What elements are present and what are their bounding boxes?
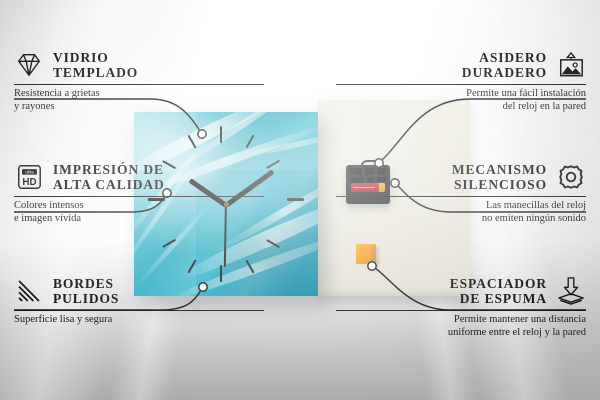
feature-title: ASIDERO DURADERO: [336, 50, 547, 80]
feature-desc-line1: Colores intensos: [14, 200, 264, 213]
feature-impresion-alta-calidad: ultra HD IMPRESIÓN DE ALTA CALIDAD Color…: [14, 162, 264, 225]
feature-vidrio-templado: VIDRIO TEMPLADO Resistencia a grietas y …: [14, 50, 264, 113]
feature-divider: [14, 310, 264, 311]
feature-mecanismo-silencioso: MECANISMO SILENCIOSO Las manecillas del …: [336, 162, 586, 225]
feature-description: Las manecillas del reloj no emiten ningú…: [336, 200, 586, 225]
feature-title-line1: MECANISMO: [336, 162, 547, 177]
feature-desc-line1: Superficie lisa y segura: [14, 314, 264, 327]
foam-spacer-arrow-icon: [556, 277, 586, 305]
diamond-icon: [14, 51, 44, 79]
feature-title-line1: ESPACIADOR: [336, 276, 547, 291]
feature-title-line2: TEMPLADO: [53, 65, 138, 80]
feature-title-line2: SILENCIOSO: [336, 177, 547, 192]
feature-title-line1: IMPRESIÓN DE: [53, 162, 165, 177]
feature-desc-line2: y rayones: [14, 101, 264, 114]
infographic-canvas: VIDRIO TEMPLADO Resistencia a grietas y …: [0, 0, 600, 400]
polished-edge-icon: [14, 277, 44, 305]
foam-spacer: [356, 244, 376, 264]
feature-espaciador-de-espuma: ESPACIADOR DE ESPUMA Permite mantener un…: [336, 276, 586, 339]
feature-title-line2: ALTA CALIDAD: [53, 177, 165, 192]
ultra-hd-badge-top-text: ultra: [25, 170, 34, 175]
feature-title-line2: DE ESPUMA: [336, 291, 547, 306]
picture-hanger-icon: [556, 51, 586, 79]
gear-icon: [556, 163, 586, 191]
feature-title-line2: DURADERO: [336, 65, 547, 80]
feature-description: Permite una fácil instalación del reloj …: [336, 88, 586, 113]
feature-desc-line2: del reloj en la pared: [336, 101, 586, 114]
ultra-hd-badge-icon: ultra HD: [14, 163, 44, 191]
feature-divider: [336, 84, 586, 85]
feature-title: BORDES PULIDOS: [53, 276, 119, 306]
feature-title: ESPACIADOR DE ESPUMA: [336, 276, 547, 306]
feature-description: Colores intensos e imagen vívida: [14, 200, 264, 225]
feature-desc-line2: uniforme entre el reloj y la pared: [336, 327, 586, 340]
feature-desc-line1: Resistencia a grietas: [14, 88, 264, 101]
feature-desc-line2: e imagen vívida: [14, 213, 264, 226]
feature-divider: [14, 196, 264, 197]
feature-bordes-pulidos: BORDES PULIDOS Superficie lisa y segura: [14, 276, 264, 327]
feature-description: Superficie lisa y segura: [14, 314, 264, 327]
hour-marker: [287, 198, 304, 201]
feature-title: MECANISMO SILENCIOSO: [336, 162, 547, 192]
feature-title: VIDRIO TEMPLADO: [53, 50, 138, 80]
feature-title: IMPRESIÓN DE ALTA CALIDAD: [53, 162, 165, 192]
feature-desc-line2: no emiten ningún sonido: [336, 213, 586, 226]
feature-title-line2: PULIDOS: [53, 291, 119, 306]
feature-divider: [14, 84, 264, 85]
feature-title-line1: VIDRIO: [53, 50, 138, 65]
feature-desc-line1: Permite una fácil instalación: [336, 88, 586, 101]
feature-asidero-duradero: ASIDERO DURADERO Permite una fácil insta…: [336, 50, 586, 113]
feature-divider: [336, 310, 586, 311]
feature-description: Resistencia a grietas y rayones: [14, 88, 264, 113]
feature-desc-line1: Permite mantener una distancia: [336, 314, 586, 327]
feature-desc-line1: Las manecillas del reloj: [336, 200, 586, 213]
feature-title-line1: BORDES: [53, 276, 119, 291]
feature-title-line1: ASIDERO: [336, 50, 547, 65]
ultra-hd-badge-bottom-text: HD: [22, 177, 36, 188]
feature-description: Permite mantener una distancia uniforme …: [336, 314, 586, 339]
feature-divider: [336, 196, 586, 197]
